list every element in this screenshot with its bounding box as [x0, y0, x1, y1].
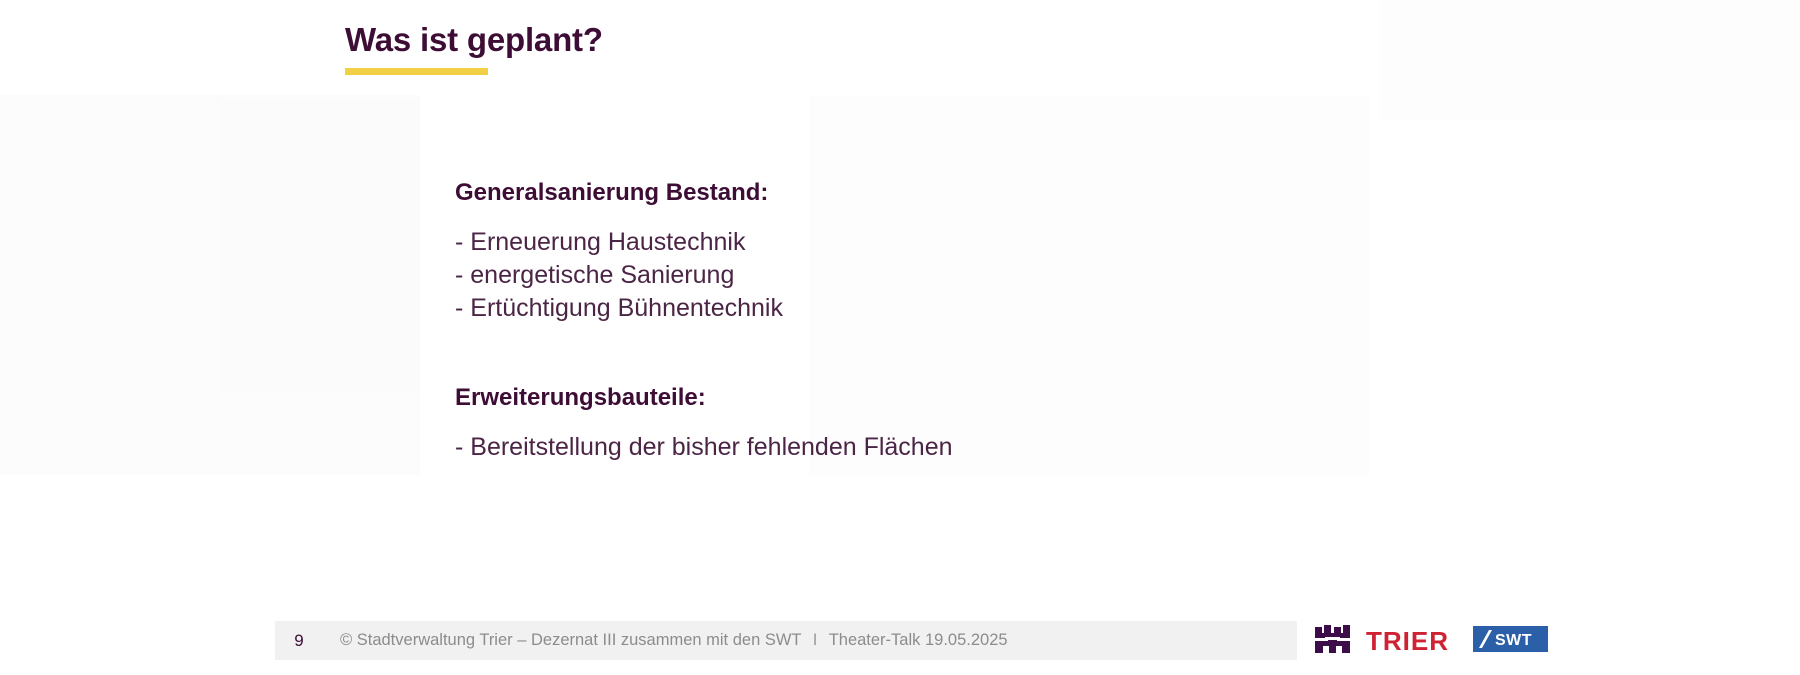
slide-body: Generalsanierung Bestand: - Erneuerung H…	[455, 178, 1355, 464]
background-watermark	[0, 95, 420, 475]
list-item: - energetische Sanierung	[455, 259, 1355, 292]
slide-footer: 9 © Stadtverwaltung Trier – Dezernat III…	[0, 611, 1800, 675]
background-watermark	[1380, 0, 1800, 120]
bullet-list: - Erneuerung Haustechnik - energetische …	[455, 226, 1355, 325]
section-heading: Generalsanierung Bestand:	[455, 178, 1355, 208]
porta-nigra-icon	[1315, 625, 1357, 658]
title-underline-rule	[345, 68, 488, 75]
slide-title-block: Was ist geplant?	[345, 22, 603, 75]
footer-copyright: © Stadtverwaltung Trier – Dezernat III z…	[340, 631, 801, 649]
svg-text:SWT: SWT	[1495, 632, 1532, 649]
slide-canvas: Was ist geplant? Generalsanierung Bestan…	[0, 0, 1800, 675]
footer-separator: I	[806, 631, 825, 650]
list-item: - Erneuerung Haustechnik	[455, 226, 1355, 259]
section-heading: Erweiterungsbauteile:	[455, 383, 1355, 413]
footer-logos: TRIER SWT	[1315, 621, 1548, 661]
trier-logo: TRIER	[1315, 625, 1449, 658]
bullet-list: - Bereitstellung der bisher fehlenden Fl…	[455, 431, 1355, 464]
section-erweiterungsbauteile: Erweiterungsbauteile: - Bereitstellung d…	[455, 383, 1355, 464]
section-generalsanierung: Generalsanierung Bestand: - Erneuerung H…	[455, 178, 1355, 325]
trier-wordmark: TRIER	[1366, 628, 1449, 654]
list-item: - Ertüchtigung Bühnentechnik	[455, 292, 1355, 325]
page-title: Was ist geplant?	[345, 22, 603, 58]
swt-logo: SWT	[1473, 626, 1548, 657]
footer-credit-text: © Stadtverwaltung Trier – Dezernat III z…	[340, 631, 1008, 650]
background-watermark	[220, 100, 420, 390]
list-item: - Bereitstellung der bisher fehlenden Fl…	[455, 431, 1355, 464]
footer-event: Theater-Talk 19.05.2025	[829, 631, 1008, 649]
page-number: 9	[284, 631, 314, 651]
